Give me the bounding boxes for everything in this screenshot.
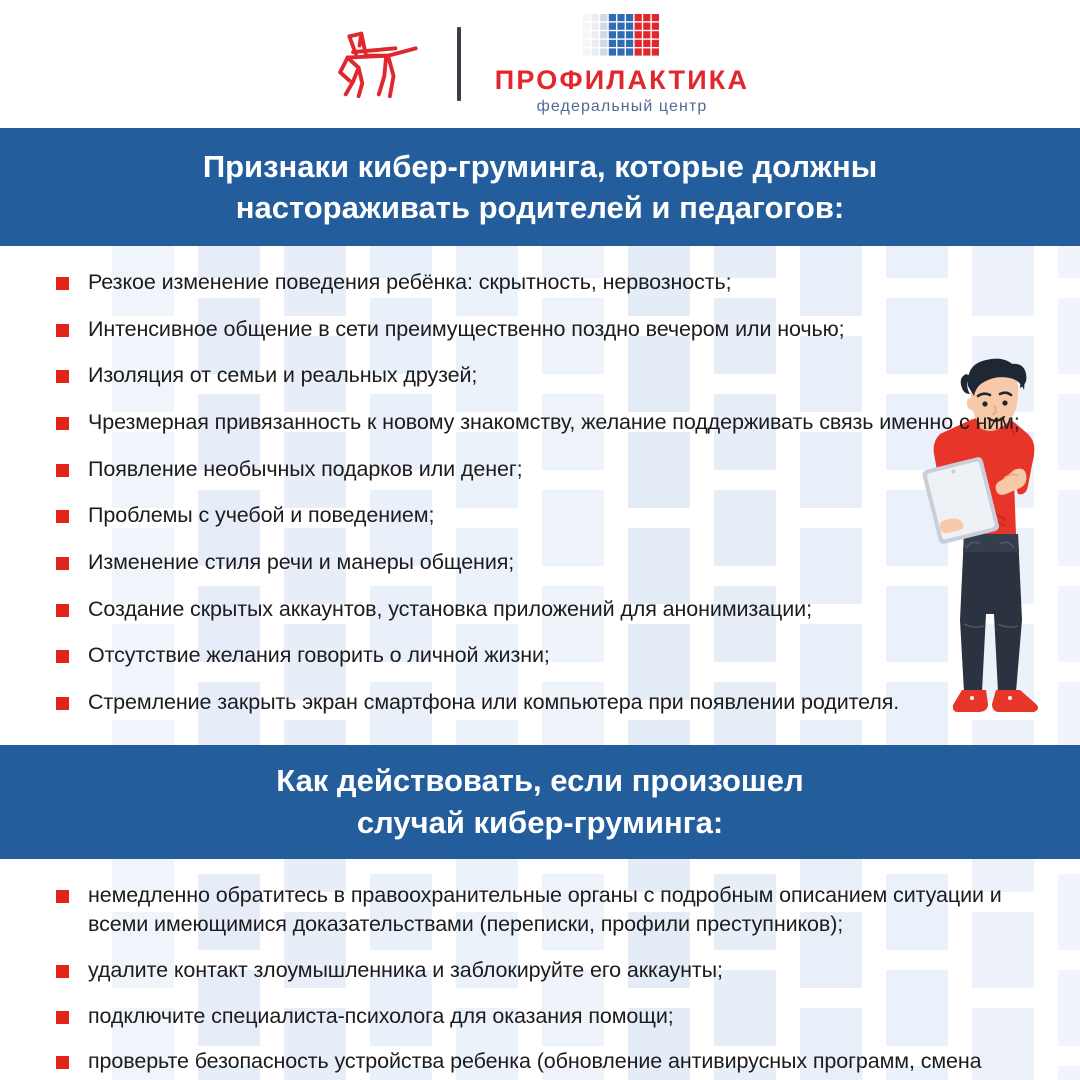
- action-item-text: подключите специалиста-психолога для ока…: [88, 1002, 1024, 1032]
- brand-name: ПРОФИЛАКТИКА: [495, 67, 749, 94]
- sign-item-text: Появление необычных подарков или денег;: [88, 455, 1024, 485]
- actions-list: немедленно обратитесь в правоохранительн…: [0, 859, 1080, 1080]
- bullet-square-icon: [56, 1011, 69, 1024]
- bullet-square-icon: [56, 1056, 69, 1069]
- bullet-square-icon: [56, 510, 69, 523]
- list-item: Изменение стиля речи и манеры общения;: [56, 548, 1024, 578]
- bullet-square-icon: [56, 650, 69, 663]
- signs-banner-line-2: настораживать родителей и педагогов:: [236, 187, 845, 228]
- action-item-text: немедленно обратитесь в правоохранительн…: [88, 881, 1024, 940]
- list-item: удалите контакт злоумышленника и заблоки…: [56, 956, 1024, 986]
- actions-banner-line-2: случай кибер-груминга:: [357, 802, 723, 843]
- signs-banner-line-1: Признаки кибер-груминга, которые должны: [203, 146, 877, 187]
- infographic-poster: ПРОФИЛАКТИКА федеральный центр Признаки …: [0, 0, 1080, 1080]
- sign-item-text: Проблемы с учебой и поведением;: [88, 501, 1024, 531]
- signs-banner: Признаки кибер-груминга, которые должны …: [0, 128, 1080, 246]
- list-item: Появление необычных подарков или денег;: [56, 455, 1024, 485]
- sign-item-text: Создание скрытых аккаунтов, установка пр…: [88, 595, 1024, 625]
- horse-line-art-icon: [331, 28, 423, 100]
- bullet-square-icon: [56, 697, 69, 710]
- action-item-text: удалите контакт злоумышленника и заблоки…: [88, 956, 1024, 986]
- list-item: Интенсивное общение в сети преимуществен…: [56, 315, 1024, 345]
- brand-lockup: ПРОФИЛАКТИКА федеральный центр: [495, 14, 749, 115]
- actions-banner: Как действовать, если произошел случай к…: [0, 745, 1080, 859]
- bullet-square-icon: [56, 965, 69, 978]
- sign-item-text: Резкое изменение поведения ребёнка: скры…: [88, 268, 1024, 298]
- brand-subtitle: федеральный центр: [537, 99, 708, 115]
- logo-divider: [457, 27, 461, 101]
- sign-item-text: Стремление закрыть экран смартфона или к…: [88, 688, 1024, 718]
- list-item: Создание скрытых аккаунтов, установка пр…: [56, 595, 1024, 625]
- list-item: проверьте безопасность устройства ребенк…: [56, 1047, 1024, 1080]
- bullet-square-icon: [56, 324, 69, 337]
- bullet-square-icon: [56, 464, 69, 477]
- bullet-square-icon: [56, 277, 69, 290]
- list-item: Проблемы с учебой и поведением;: [56, 501, 1024, 531]
- brand-header: ПРОФИЛАКТИКА федеральный центр: [0, 0, 1080, 128]
- sign-item-text: Изменение стиля речи и манеры общения;: [88, 548, 1024, 578]
- sign-item-text: Отсутствие желания говорить о личной жиз…: [88, 641, 1024, 671]
- list-item: Отсутствие желания говорить о личной жиз…: [56, 641, 1024, 671]
- list-item: Резкое изменение поведения ребёнка: скры…: [56, 268, 1024, 298]
- bullet-square-icon: [56, 370, 69, 383]
- sign-item-text: Изоляция от семьи и реальных друзей;: [88, 361, 1024, 391]
- list-item: Стремление закрыть экран смартфона или к…: [56, 688, 1024, 718]
- list-item: немедленно обратитесь в правоохранительн…: [56, 881, 1024, 940]
- flag-grid-icon: [583, 14, 661, 67]
- action-item-text: проверьте безопасность устройства ребенк…: [88, 1047, 1024, 1080]
- list-item: Чрезмерная привязанность к новому знаком…: [56, 408, 1024, 438]
- bullet-square-icon: [56, 557, 69, 570]
- sign-item-text: Чрезмерная привязанность к новому знаком…: [88, 408, 1024, 438]
- signs-list: Резкое изменение поведения ребёнка: скры…: [0, 246, 1080, 745]
- actions-banner-line-1: Как действовать, если произошел: [276, 760, 803, 801]
- sign-item-text: Интенсивное общение в сети преимуществен…: [88, 315, 1024, 345]
- bullet-square-icon: [56, 890, 69, 903]
- list-item: Изоляция от семьи и реальных друзей;: [56, 361, 1024, 391]
- bullet-square-icon: [56, 417, 69, 430]
- list-item: подключите специалиста-психолога для ока…: [56, 1002, 1024, 1032]
- bullet-square-icon: [56, 604, 69, 617]
